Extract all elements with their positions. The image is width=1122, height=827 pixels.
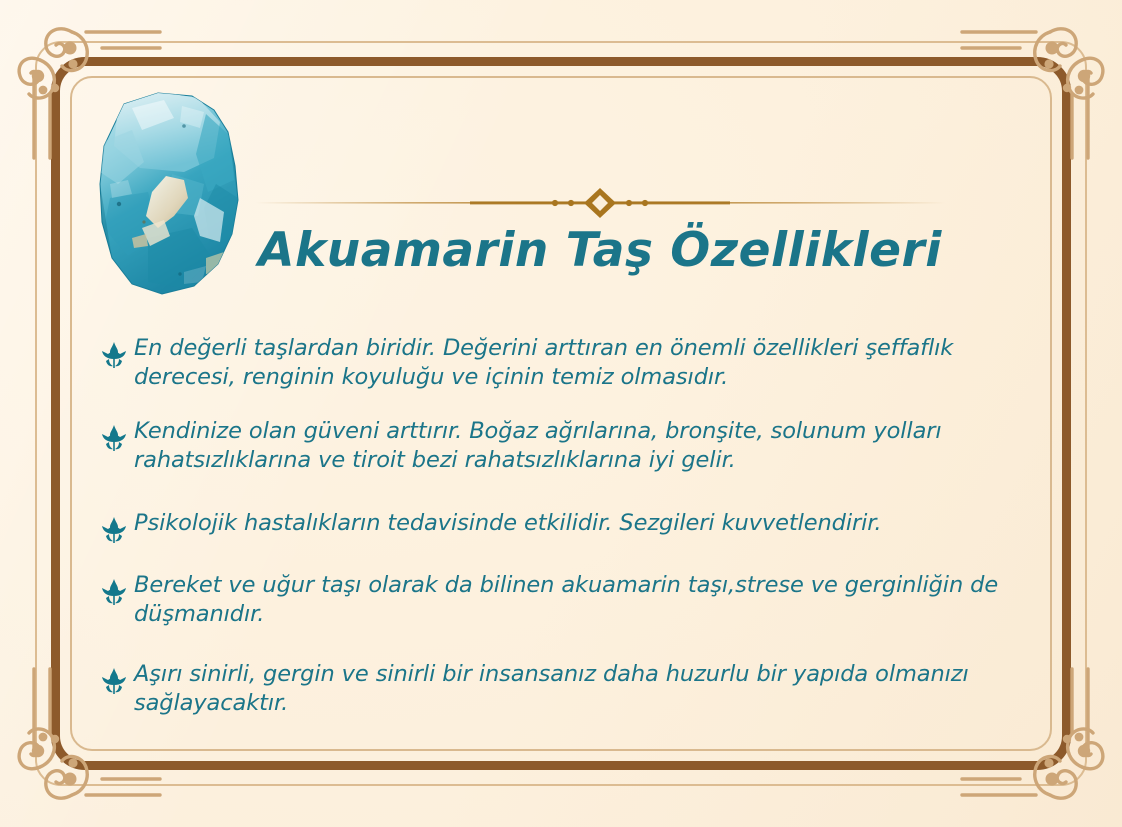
fleur-de-lis-bullet-icon	[100, 666, 128, 696]
list-item: Bereket ve uğur taşı olarak da bilinen a…	[100, 571, 1050, 630]
page-title: Akuamarin Taş Özellikleri	[255, 226, 945, 277]
list-item: Kendinize olan güveni arttırır. Boğaz ağ…	[100, 417, 1050, 476]
info-card: Akuamarin Taş Özellikleri En değerli taş…	[0, 0, 1122, 827]
list-item-text: Aşırı sinirli, gergin ve sinirli bir ins…	[134, 660, 1050, 719]
gold-diamond-divider-icon	[255, 186, 945, 220]
aquamarine-crystal-image	[88, 88, 260, 312]
list-item-text: Bereket ve uğur taşı olarak da bilinen a…	[134, 571, 1050, 630]
fleur-de-lis-bullet-icon	[100, 577, 128, 607]
fleur-de-lis-bullet-icon	[100, 515, 128, 545]
header-block: Akuamarin Taş Özellikleri	[255, 186, 945, 277]
list-item-text: Kendinize olan güveni arttırır. Boğaz ağ…	[134, 417, 1050, 476]
list-item-text: Psikolojik hastalıkların tedavisinde etk…	[134, 509, 881, 538]
list-item: Aşırı sinirli, gergin ve sinirli bir ins…	[100, 660, 1050, 719]
properties-list: En değerli taşlardan biridir. Değerini a…	[100, 334, 1050, 718]
list-item-text: En değerli taşlardan biridir. Değerini a…	[134, 334, 1050, 393]
list-item: Psikolojik hastalıkların tedavisinde etk…	[100, 509, 1050, 545]
fleur-de-lis-bullet-icon	[100, 340, 128, 370]
list-item: En değerli taşlardan biridir. Değerini a…	[100, 334, 1050, 393]
floral-scroll-corner-ornament-icon	[952, 8, 1112, 168]
fleur-de-lis-bullet-icon	[100, 423, 128, 453]
